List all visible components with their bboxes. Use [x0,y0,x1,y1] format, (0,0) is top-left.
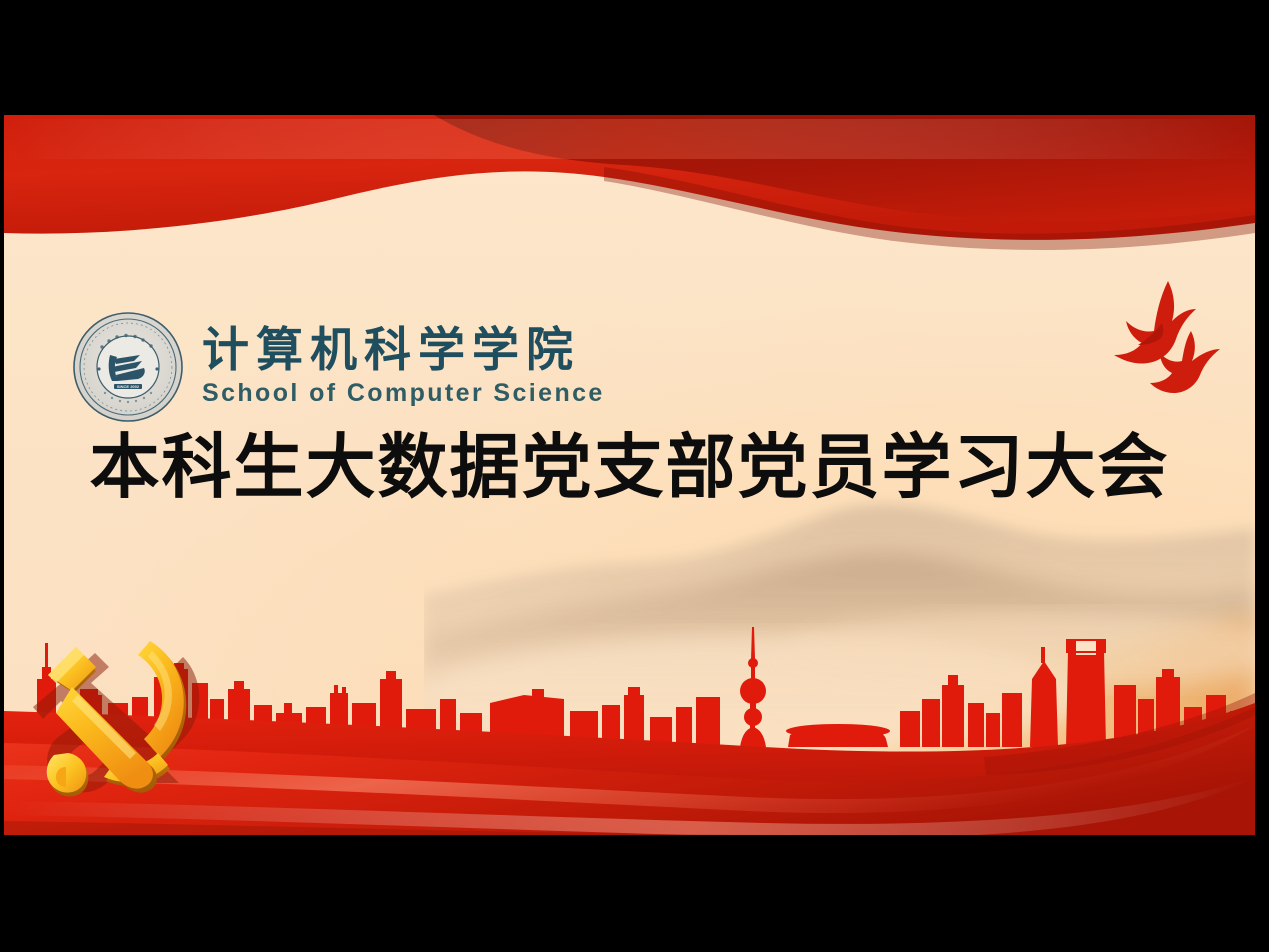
slide-canvas: SINCE 2002 计算机科学学院 School of Computer Sc… [4,115,1255,835]
university-seal-icon: SINCE 2002 [72,311,184,423]
seal-since-text: SINCE 2002 [117,384,140,389]
school-name-group: 计算机科学学院 School of Computer Science [202,326,605,408]
school-logo-block: SINCE 2002 计算机科学学院 School of Computer Sc… [72,311,605,423]
cpc-party-emblem-icon [26,621,216,811]
presentation-stage: SINCE 2002 计算机科学学院 School of Computer Sc… [0,0,1269,952]
top-red-ribbon-banner [4,115,1255,265]
school-name-cn: 计算机科学学院 [202,326,605,377]
slide-title: 本科生大数据党支部党员学习大会 [4,411,1255,512]
school-name-en: School of Computer Science [202,379,605,408]
red-doves-icon [1084,265,1255,405]
